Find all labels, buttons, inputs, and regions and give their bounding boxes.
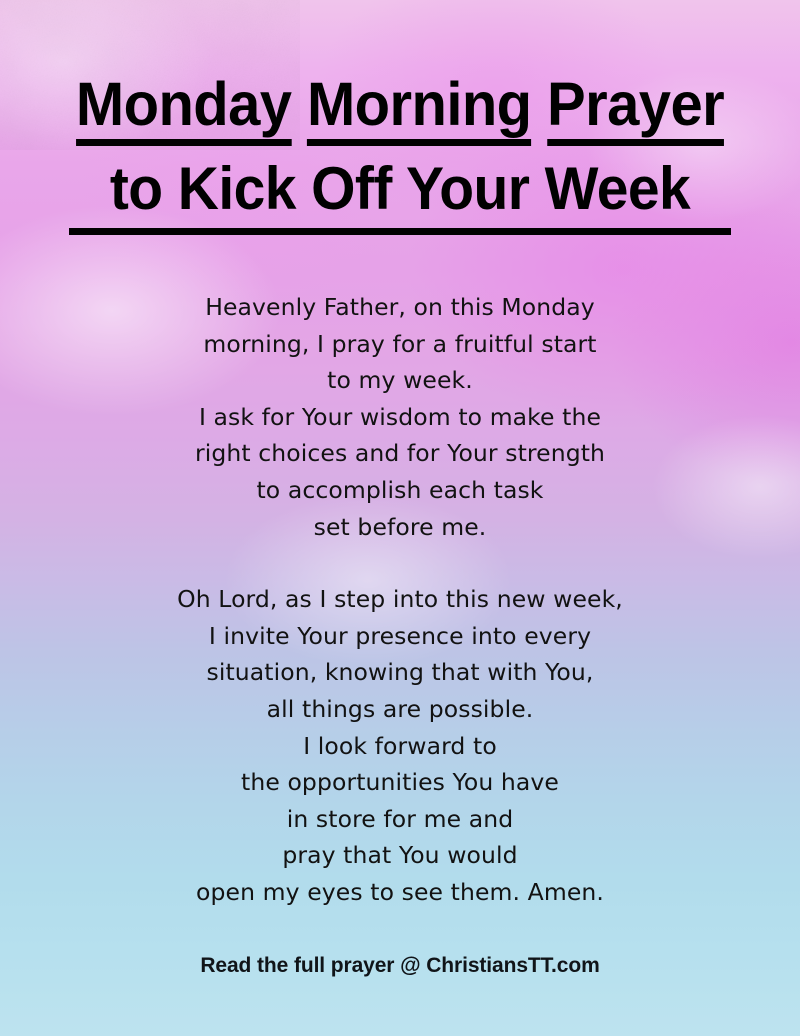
prayer-line: set before me. (0, 509, 800, 546)
paragraph-spacer (0, 545, 800, 581)
title-line-2-text: to Kick Off Your Week (110, 157, 690, 224)
prayer-line: I ask for Your wisdom to make the (0, 399, 800, 436)
footer-attribution: Read the full prayer @ ChristiansTT.com (0, 954, 800, 978)
title-line-1: Monday Morning Prayer (20, 72, 780, 146)
title-word-3: Prayer (547, 72, 724, 146)
prayer-line: in store for me and (0, 801, 800, 838)
prayer-paragraph-2: Oh Lord, as I step into this new week, I… (0, 581, 800, 910)
prayer-line: the opportunities You have (0, 764, 800, 801)
title-word-1: Monday (76, 72, 292, 146)
title-word-2: Morning (307, 72, 532, 146)
prayer-line: right choices and for Your strength (0, 435, 800, 472)
title-underline (69, 228, 731, 235)
prayer-line: situation, knowing that with You, (0, 654, 800, 691)
prayer-line: I look forward to (0, 728, 800, 765)
prayer-line: morning, I pray for a fruitful start (0, 326, 800, 363)
prayer-line: Oh Lord, as I step into this new week, (0, 581, 800, 618)
prayer-line: pray that You would (0, 837, 800, 874)
prayer-poster: Monday Morning Prayer to Kick Off Your W… (0, 0, 800, 1036)
prayer-line: Heavenly Father, on this Monday (0, 289, 800, 326)
prayer-paragraph-1: Heavenly Father, on this Monday morning,… (0, 289, 800, 545)
prayer-line: to accomplish each task (0, 472, 800, 509)
prayer-line: all things are possible. (0, 691, 800, 728)
prayer-body: Heavenly Father, on this Monday morning,… (0, 289, 800, 911)
prayer-line: open my eyes to see them. Amen. (0, 874, 800, 911)
title-line-2: to Kick Off Your Week (20, 157, 780, 224)
page-title: Monday Morning Prayer to Kick Off Your W… (0, 72, 800, 235)
prayer-line: I invite Your presence into every (0, 618, 800, 655)
prayer-line: to my week. (0, 362, 800, 399)
